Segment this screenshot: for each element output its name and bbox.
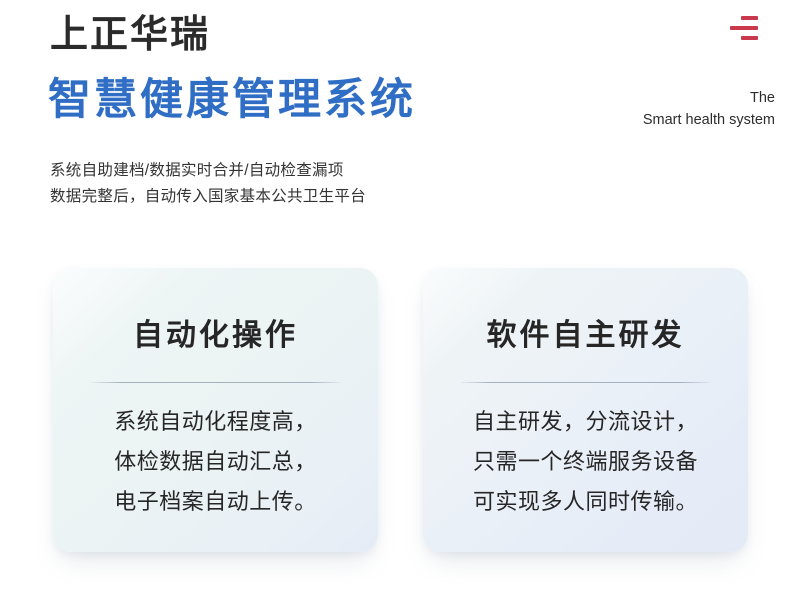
- english-subtitle-line2: Smart health system: [643, 110, 775, 132]
- card-inner: 软件自主研发 自主研发，分流设计， 只需一个终端服务设备 可实现多人同时传输。: [423, 268, 748, 552]
- english-subtitle: The Smart health system: [643, 88, 775, 132]
- card-body-line3: 可实现多人同时传输。: [423, 482, 748, 522]
- card-title: 软件自主研发: [423, 310, 748, 354]
- subtitle-paragraph: 系统自助建档/数据实时合并/自动检查漏项 数据完整后，自动传入国家基本公共卫生平…: [50, 158, 366, 210]
- card-body: 自主研发，分流设计， 只需一个终端服务设备 可实现多人同时传输。: [423, 402, 748, 522]
- hamburger-menu-icon[interactable]: [728, 16, 758, 40]
- menu-line-middle: [730, 26, 758, 30]
- page-root: 上正华瑞 智慧健康管理系统 The Smart health system 系统…: [0, 0, 800, 594]
- subtitle-line2: 数据完整后，自动传入国家基本公共卫生平台: [50, 184, 366, 210]
- brand-name: 上正华瑞: [50, 15, 210, 57]
- card-body-line1: 系统自动化程度高，: [53, 402, 378, 442]
- card-divider: [461, 382, 710, 383]
- card-body-line3: 电子档案自动上传。: [53, 482, 378, 522]
- feature-card-self-developed-software[interactable]: 软件自主研发 自主研发，分流设计， 只需一个终端服务设备 可实现多人同时传输。: [423, 268, 748, 552]
- feature-card-automation[interactable]: 自动化操作 系统自动化程度高， 体检数据自动汇总， 电子档案自动上传。: [53, 268, 378, 552]
- card-body: 系统自动化程度高， 体检数据自动汇总， 电子档案自动上传。: [53, 402, 378, 522]
- english-subtitle-line1: The: [643, 88, 775, 110]
- menu-line-top: [741, 16, 758, 20]
- feature-cards: 自动化操作 系统自动化程度高， 体检数据自动汇总， 电子档案自动上传。 软件自主…: [0, 268, 800, 568]
- menu-line-bottom: [741, 36, 758, 40]
- header: 上正华瑞 智慧健康管理系统 The Smart health system: [0, 0, 800, 150]
- card-body-line2: 只需一个终端服务设备: [423, 442, 748, 482]
- card-body-line1: 自主研发，分流设计，: [423, 402, 748, 442]
- card-body-line2: 体检数据自动汇总，: [53, 442, 378, 482]
- card-divider: [91, 382, 340, 383]
- subtitle-line1: 系统自助建档/数据实时合并/自动检查漏项: [50, 158, 366, 184]
- card-title: 自动化操作: [53, 310, 378, 354]
- card-inner: 自动化操作 系统自动化程度高， 体检数据自动汇总， 电子档案自动上传。: [53, 268, 378, 552]
- page-title: 智慧健康管理系统: [48, 76, 416, 125]
